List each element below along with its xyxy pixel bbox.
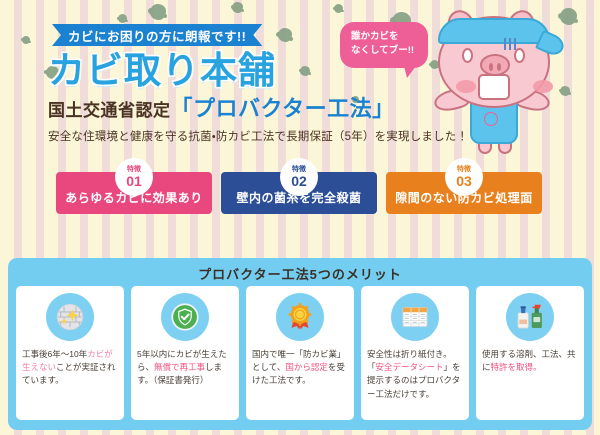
pig-nostril-left-icon (489, 63, 493, 71)
merit-card[interactable]: 5年以内にカビが生えたら、無償で再工事します。（保証書発行） (131, 286, 239, 420)
pig-hair-strand-icon (504, 38, 506, 50)
mold-spot-icon (150, 4, 166, 20)
pig-eye-left-icon (462, 48, 473, 63)
mold-spot-icon (22, 36, 30, 44)
merits-section-title: プロバクター工法5つのメリット (16, 264, 584, 286)
award-ribbon-icon (276, 293, 324, 341)
merit-card[interactable]: 国内で唯一「防カビ業」として、国から認定を受けた工法です。 (246, 286, 354, 420)
mold-spot-icon (334, 4, 343, 13)
pig-nostril-right-icon (497, 63, 501, 71)
tagline-text: 安全な住環境と健康を守る抗菌・防カビ工法で長期保証（5年）を実現しました！ (48, 128, 448, 144)
speech-line-2: なくしてブー!! (351, 44, 419, 58)
pig-cheek-right-icon (533, 80, 553, 93)
merit-card[interactable]: 工事後6年～10年カビが生えないことが実証されています。 (16, 286, 124, 420)
merits-panel: プロバクター工法5つのメリット 工事後6年～10年カビが生えないことが実証されて… (8, 258, 592, 430)
merit-text-fragment: 工事後6年～10年 (22, 349, 87, 359)
landing-page: カビにお困りの方に朗報です!! カビ取り本舗 国土交通省認定「プロバクター工法」… (0, 0, 600, 435)
feature-box-03[interactable]: 特徴 03 隙間のない防カビ処理面 (386, 172, 542, 214)
merit-card-text: 5年以内にカビが生えたら、無償で再工事します。（保証書発行） (137, 348, 233, 388)
feature-badge-number: 03 (456, 174, 472, 188)
merit-card-text: 安全性は折り紙付き。「安全データシート」を提示するのはプロバクター工法だけです。 (367, 348, 463, 401)
spray-bottle-icon (506, 293, 554, 341)
feature-badge-01: 特徴 01 (115, 158, 153, 196)
apron-logo-icon (484, 112, 498, 126)
mold-spot-icon (118, 14, 127, 23)
certification-prefix: 国土交通省認定 (48, 101, 171, 120)
feature-box-02[interactable]: 特徴 02 壁内の菌糸を完全殺菌 (221, 172, 377, 214)
mold-spot-icon (278, 28, 292, 42)
feature-badge-number: 01 (126, 174, 142, 188)
brick-wall-sparkle-icon (46, 293, 94, 341)
feature-badge-word: 特徴 (292, 166, 306, 173)
pig-hair-strand-icon (509, 38, 511, 50)
pig-bandana-icon (438, 18, 550, 44)
certification-method-name: 「プロバクター工法」 (171, 96, 395, 121)
feature-badge-03: 特徴 03 (445, 158, 483, 196)
feature-box-01[interactable]: 特徴 01 あらゆるカビに効果あり (56, 172, 212, 214)
announcement-ribbon: カビにお困りの方に朗報です!! (52, 24, 262, 46)
merit-text-fragment: 特許を取得。 (491, 362, 542, 372)
pig-cheek-left-icon (456, 80, 476, 93)
feature-badge-02: 特徴 02 (280, 158, 318, 196)
merit-text-fragment: 安全データシート (376, 362, 444, 372)
pig-face-mask-icon (478, 74, 510, 100)
merit-text-fragment: 無償で再工事 (154, 362, 205, 372)
pig-eye-right-icon (514, 48, 525, 63)
merit-card[interactable]: 安全性は折り紙付き。「安全データシート」を提示するのはプロバクター工法だけです。 (361, 286, 469, 420)
merit-card-text: 工事後6年～10年カビが生えないことが実証されています。 (22, 348, 118, 388)
pig-mascot-illustration (430, 2, 590, 154)
feature-box-row: 特徴 01 あらゆるカビに効果あり 特徴 02 壁内の菌糸を完全殺菌 特徴 03… (56, 172, 542, 214)
data-sheet-icon (391, 293, 439, 341)
feature-badge-word: 特徴 (127, 166, 141, 173)
pig-hair-strand-icon (514, 38, 516, 50)
certification-line: 国土交通省認定「プロバクター工法」 (48, 98, 448, 120)
pig-snout-icon (480, 54, 510, 76)
shield-check-icon (161, 293, 209, 341)
merit-card[interactable]: 使用する溶剤、工法、共に特許を取得。 (476, 286, 584, 420)
feature-badge-word: 特徴 (457, 166, 471, 173)
merit-card-text: 国内で唯一「防カビ業」として、国から認定を受けた工法です。 (252, 348, 348, 388)
merit-card-list: 工事後6年～10年カビが生えないことが実証されています。 5年以内にカビが生えた… (16, 286, 584, 420)
merit-card-text: 使用する溶剤、工法、共に特許を取得。 (482, 348, 578, 374)
mascot-speech-bubble: 誰かカビを なくしてブー!! (340, 22, 428, 68)
mold-spot-icon (232, 2, 243, 13)
speech-line-1: 誰かカビを (351, 30, 419, 44)
feature-badge-number: 02 (291, 174, 307, 188)
merit-text-fragment: 国から認定 (285, 362, 328, 372)
